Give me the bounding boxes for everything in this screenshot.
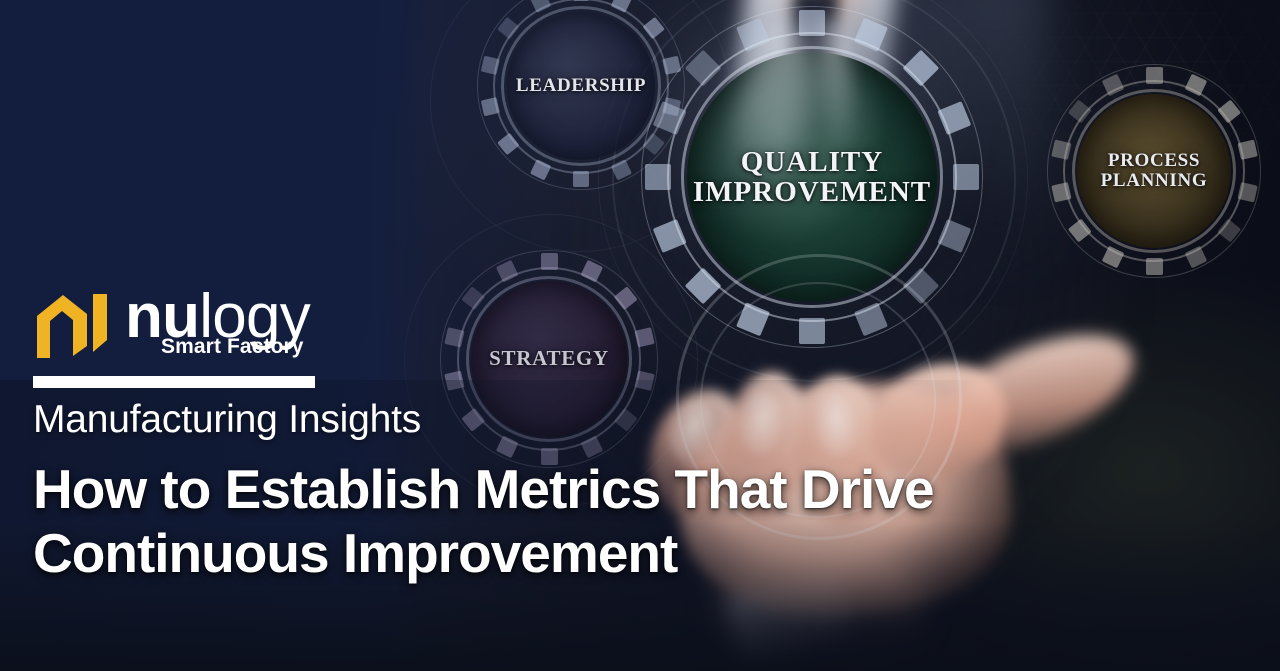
divider-rule [33, 376, 315, 388]
headline-line-1: How to Establish Metrics That Drive [33, 458, 934, 522]
gear-process-planning: PROCESS PLANNING [1047, 64, 1261, 278]
gear-label-line-1: QUALITY [741, 147, 883, 177]
hero-content: nulogy Smart Factory Manufacturing Insig… [33, 288, 1213, 370]
gear-label-line-2: IMPROVEMENT [693, 177, 931, 207]
page-title: How to Establish Metrics That Drive Cont… [33, 458, 934, 586]
brand-tagline: Smart Factory [161, 335, 304, 359]
gear-label-process-planning: PROCESS PLANNING [1047, 64, 1261, 278]
gear-label-line-1: PROCESS [1108, 151, 1200, 171]
manufacturing-insights-hero-banner: LEADERSHIP STRATEGY PROCESS PLANNING QUA… [0, 0, 1280, 671]
gear-label-line-2: PLANNING [1101, 171, 1208, 191]
eyebrow-label: Manufacturing Insights [33, 398, 421, 442]
brand-lockup[interactable]: nulogy Smart Factory [33, 288, 1213, 370]
nulogy-logo-icon [33, 290, 115, 362]
headline-line-2: Continuous Improvement [33, 522, 934, 586]
